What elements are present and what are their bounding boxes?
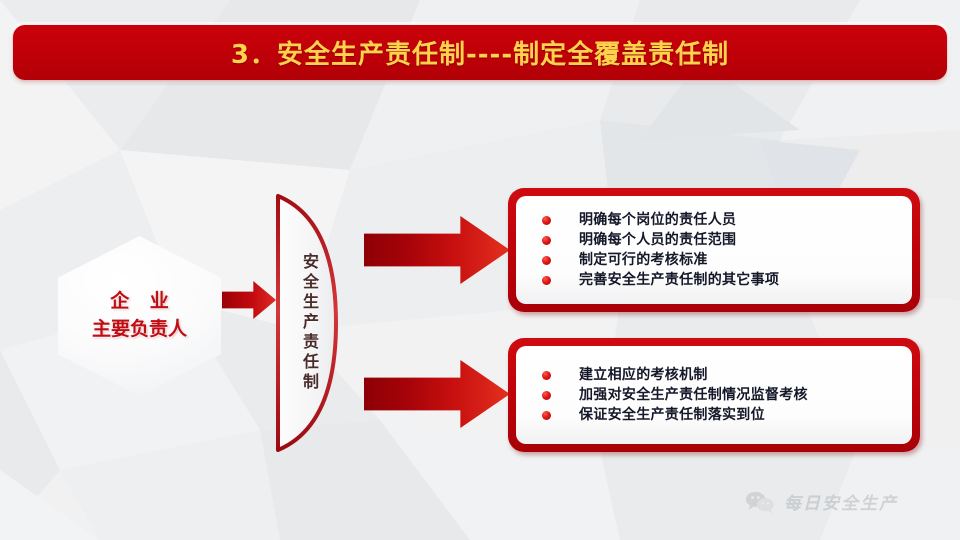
watermark: 每日安全生产 <box>745 489 898 514</box>
bullet-dot-icon <box>542 256 551 265</box>
bullet-dot-icon <box>542 276 551 285</box>
list-item: 制定可行的考核标准 <box>542 253 902 267</box>
slide-title-bar: 3．安全生产责任制----制定全覆盖责任制 <box>13 25 947 80</box>
slide-canvas: 3．安全生产责任制----制定全覆盖责任制 企 业 主要负责人 <box>0 0 960 540</box>
list-item-label: 保证安全生产责任制落实到位 <box>579 408 765 422</box>
list-item-label: 明确每个岗位的责任人员 <box>579 213 736 227</box>
page-title: 3．安全生产责任制----制定全覆盖责任制 <box>231 34 729 71</box>
list-item: 明确每个人员的责任范围 <box>542 233 902 247</box>
list-item-label: 建立相应的考核机制 <box>579 368 708 382</box>
responsibility-items-box: 明确每个岗位的责任人员 明确每个人员的责任范围 制定可行的考核标准 完善安全生产… <box>508 188 920 312</box>
bullet-dot-icon <box>542 391 551 400</box>
assessment-items-list: 建立相应的考核机制 加强对安全生产责任制情况监督考核 保证安全生产责任制落实到位 <box>516 346 912 444</box>
list-item: 建立相应的考核机制 <box>542 368 902 382</box>
hexagon-line-1: 企 业 <box>103 288 176 316</box>
leaf-vertical-label-wrap: 安全生产责任制 <box>272 192 338 454</box>
wechat-icon <box>745 490 775 514</box>
list-item-label: 制定可行的考核标准 <box>579 253 708 267</box>
hexagon-line-2: 主要负责人 <box>92 316 187 344</box>
leaf-vertical-label: 安全生产责任制 <box>297 253 321 393</box>
responsibility-items-list: 明确每个岗位的责任人员 明确每个人员的责任范围 制定可行的考核标准 完善安全生产… <box>516 196 912 304</box>
leaf-safety-responsibility-system: 安全生产责任制 <box>272 192 338 454</box>
list-item-label: 明确每个人员的责任范围 <box>579 233 736 247</box>
list-item-label: 完善安全生产责任制的其它事项 <box>579 273 779 287</box>
assessment-items-box: 建立相应的考核机制 加强对安全生产责任制情况监督考核 保证安全生产责任制落实到位 <box>508 338 920 452</box>
bullet-dot-icon <box>542 236 551 245</box>
bullet-dot-icon <box>542 371 551 380</box>
watermark-label: 每日安全生产 <box>784 489 898 514</box>
list-item-label: 加强对安全生产责任制情况监督考核 <box>579 388 808 402</box>
list-item: 明确每个岗位的责任人员 <box>542 213 902 227</box>
list-item: 加强对安全生产责任制情况监督考核 <box>542 388 902 402</box>
list-item: 保证安全生产责任制落实到位 <box>542 408 902 422</box>
list-item: 完善安全生产责任制的其它事项 <box>542 273 902 287</box>
bullet-dot-icon <box>542 216 551 225</box>
bullet-dot-icon <box>542 411 551 420</box>
